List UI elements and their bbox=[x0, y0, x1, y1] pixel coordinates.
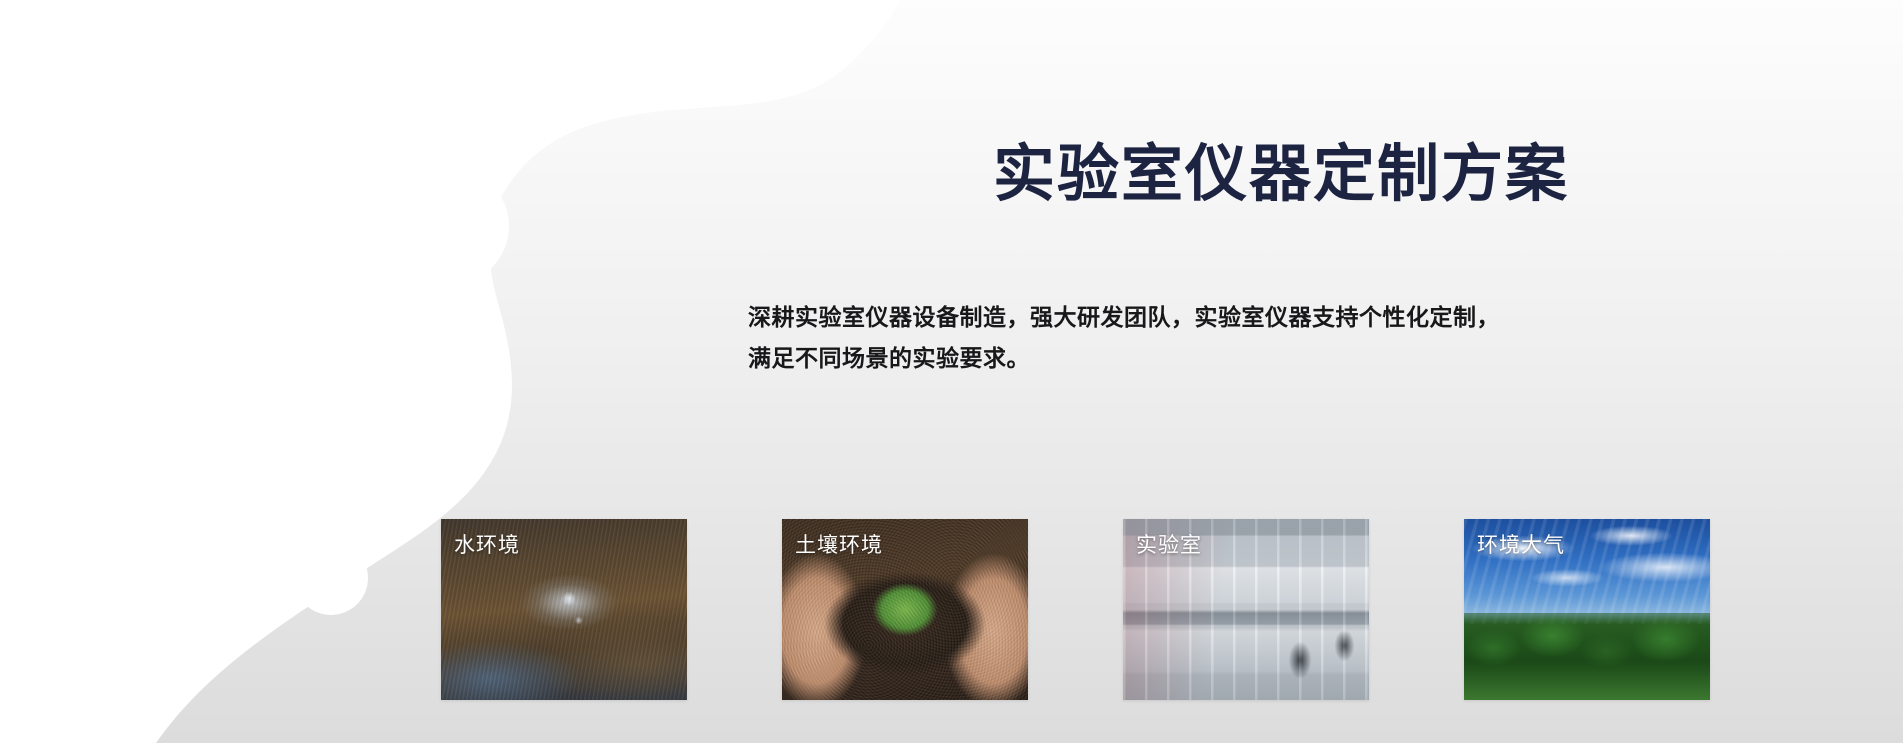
subtitle-block: 深耕实验室仪器设备制造，强大研发团队，实验室仪器支持个性化定制， 满足不同场景的… bbox=[748, 297, 1738, 379]
category-card-soil[interactable]: 土壤环境 bbox=[782, 519, 1028, 700]
headline-block: 实验室仪器定制方案 bbox=[993, 142, 1753, 209]
category-card-label: 水环境 bbox=[454, 532, 520, 559]
category-card-atmosphere[interactable]: 环境大气 bbox=[1464, 519, 1710, 700]
category-card-laboratory[interactable]: 实验室 bbox=[1123, 519, 1369, 700]
decor-circle-large bbox=[391, 167, 509, 285]
decor-circle-small bbox=[294, 541, 368, 615]
subtitle-line-2: 满足不同场景的实验要求。 bbox=[748, 338, 1738, 379]
category-card-label: 土壤环境 bbox=[795, 532, 883, 559]
subtitle-line-1: 深耕实验室仪器设备制造，强大研发团队，实验室仪器支持个性化定制， bbox=[748, 297, 1738, 338]
category-card-label: 环境大气 bbox=[1477, 532, 1565, 559]
category-card-label: 实验室 bbox=[1136, 532, 1202, 559]
category-card-water[interactable]: 水环境 bbox=[441, 519, 687, 700]
category-card-strip: 水环境 土壤环境 实验室 环境大气 bbox=[441, 519, 1711, 700]
hero-banner: 实验室仪器定制方案 深耕实验室仪器设备制造，强大研发团队，实验室仪器支持个性化定… bbox=[0, 0, 1903, 743]
page-title: 实验室仪器定制方案 bbox=[993, 142, 1753, 209]
